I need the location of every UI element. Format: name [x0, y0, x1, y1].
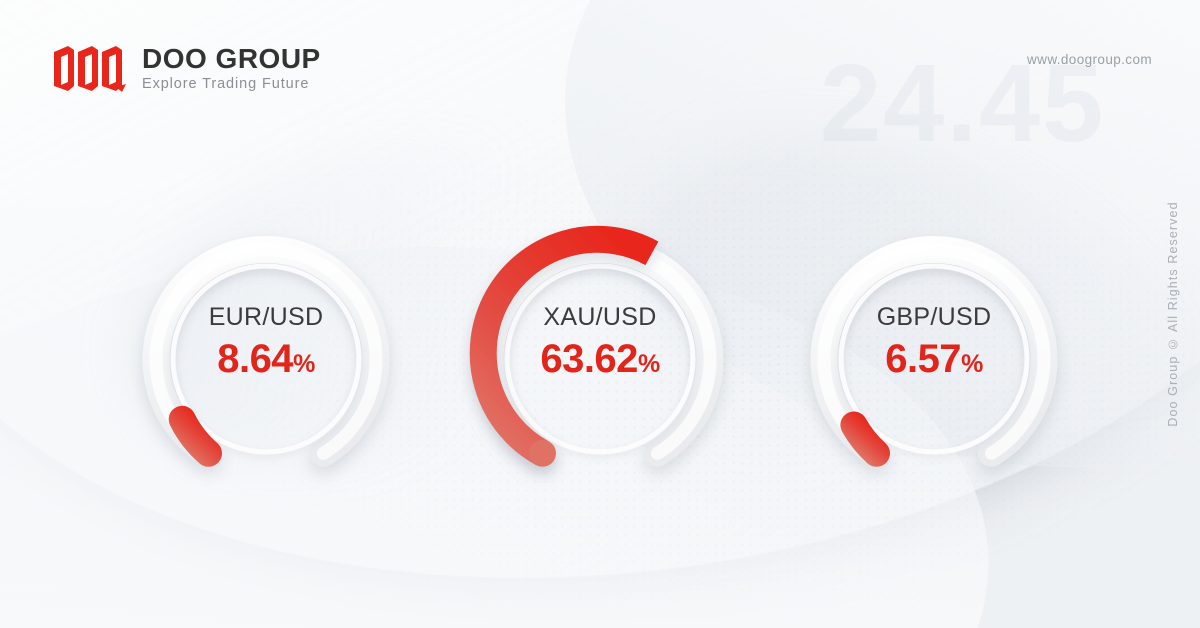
brand-text: DOO GROUP Explore Trading Future: [142, 44, 321, 93]
brand-name: DOO GROUP: [142, 44, 321, 73]
gauge-text-xauusd: XAU/USD 63.62%: [455, 304, 745, 382]
gauge-pair-label: XAU/USD: [455, 304, 745, 332]
gauge-value: 6.57%: [789, 336, 1079, 382]
gauge-text-gbpusd: GBP/USD 6.57%: [789, 304, 1079, 382]
doo-group-logo-mark-icon: [52, 46, 128, 92]
brand-tagline: Explore Trading Future: [142, 77, 321, 93]
gauge-pair-label: EUR/USD: [121, 304, 411, 332]
gauge-card-xauusd: XAU/USD 63.62%: [455, 228, 745, 490]
poster-canvas: 24.45 DOO GROUP Explore Trading Future w…: [0, 0, 1200, 628]
gauge-pair-label: GBP/USD: [789, 304, 1079, 332]
percent-sign: %: [293, 350, 315, 378]
gauge-value-number: 63.62: [540, 337, 638, 381]
gauge-text-eurusd: EUR/USD 8.64%: [121, 304, 411, 382]
gauge-group: EUR/USD 8.64%: [0, 228, 1200, 488]
gauge-value: 63.62%: [455, 336, 745, 382]
gauge-value-number: 8.64: [217, 337, 293, 381]
gauge-value-number: 6.57: [885, 337, 961, 381]
percent-sign: %: [961, 350, 983, 378]
percent-sign: %: [638, 350, 660, 378]
gauge-card-gbpusd: GBP/USD 6.57%: [789, 228, 1079, 490]
gauge-card-eurusd: EUR/USD 8.64%: [121, 228, 411, 490]
brand-logo: DOO GROUP Explore Trading Future: [52, 44, 321, 93]
website-url[interactable]: www.doogroup.com: [1027, 52, 1152, 67]
gauge-value: 8.64%: [121, 336, 411, 382]
